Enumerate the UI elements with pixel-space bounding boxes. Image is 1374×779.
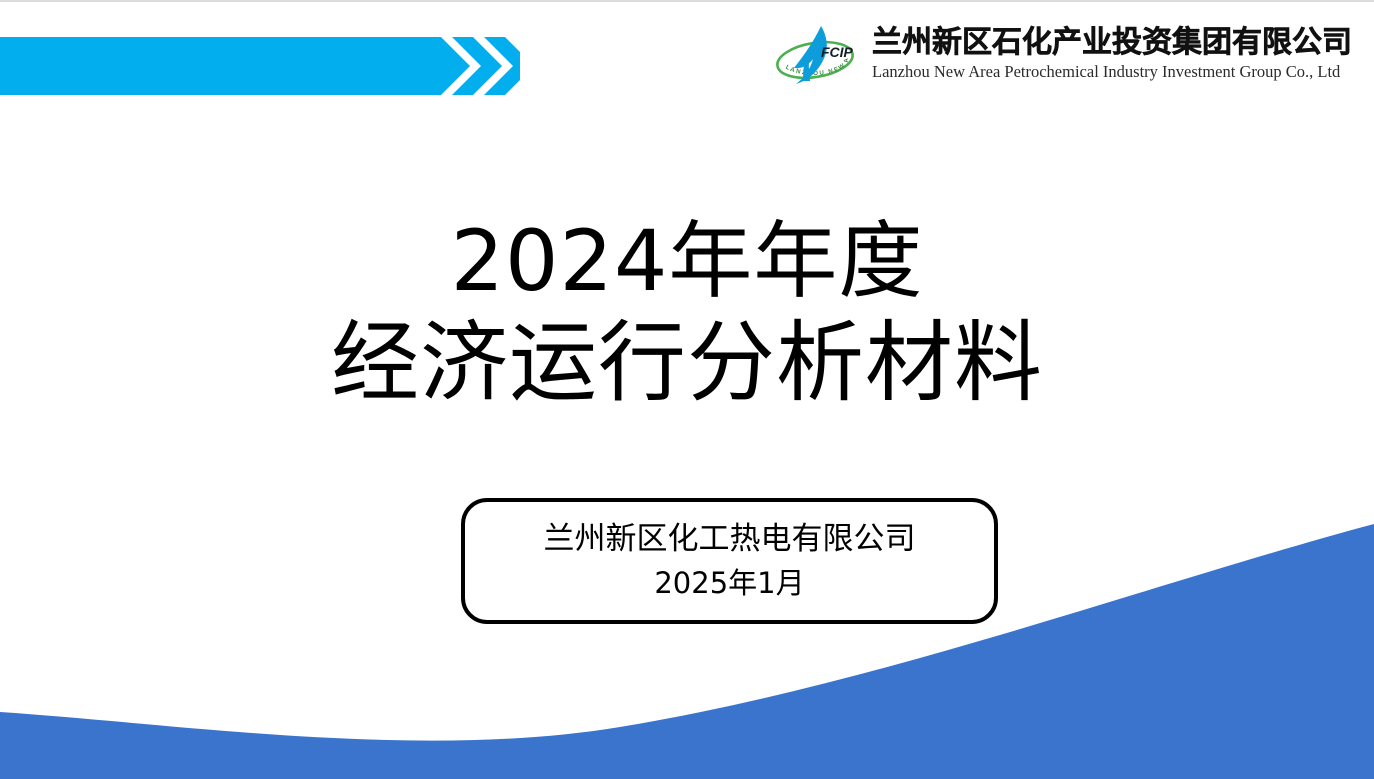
author-date: 2025年1月 [654, 567, 804, 600]
presentation-title-slide: LANZHOU NEW AREA FCIP 兰州新区石化产业投资集团有限公司 L… [0, 0, 1374, 779]
author-info-box: 兰州新区化工热电有限公司 2025年1月 [461, 498, 998, 624]
company-name-en: Lanzhou New Area Petrochemical Industry … [872, 62, 1352, 83]
page-title-line-1: 2024年年度 [0, 212, 1374, 311]
corporate-logo: LANZHOU NEW AREA FCIP 兰州新区石化产业投资集团有限公司 L… [774, 24, 1352, 86]
cyan-accent-banner [0, 37, 520, 95]
page-title: 2024年年度 经济运行分析材料 [0, 212, 1374, 415]
author-company-name: 兰州新区化工热电有限公司 [544, 522, 916, 558]
svg-text:FCIP: FCIP [821, 44, 854, 60]
fcip-logo-mark-icon: LANZHOU NEW AREA FCIP [774, 24, 862, 86]
page-title-line-2: 经济运行分析材料 [0, 311, 1374, 415]
logo-text-block: 兰州新区石化产业投资集团有限公司 Lanzhou New Area Petroc… [872, 27, 1352, 82]
company-name-cn: 兰州新区石化产业投资集团有限公司 [872, 27, 1352, 59]
